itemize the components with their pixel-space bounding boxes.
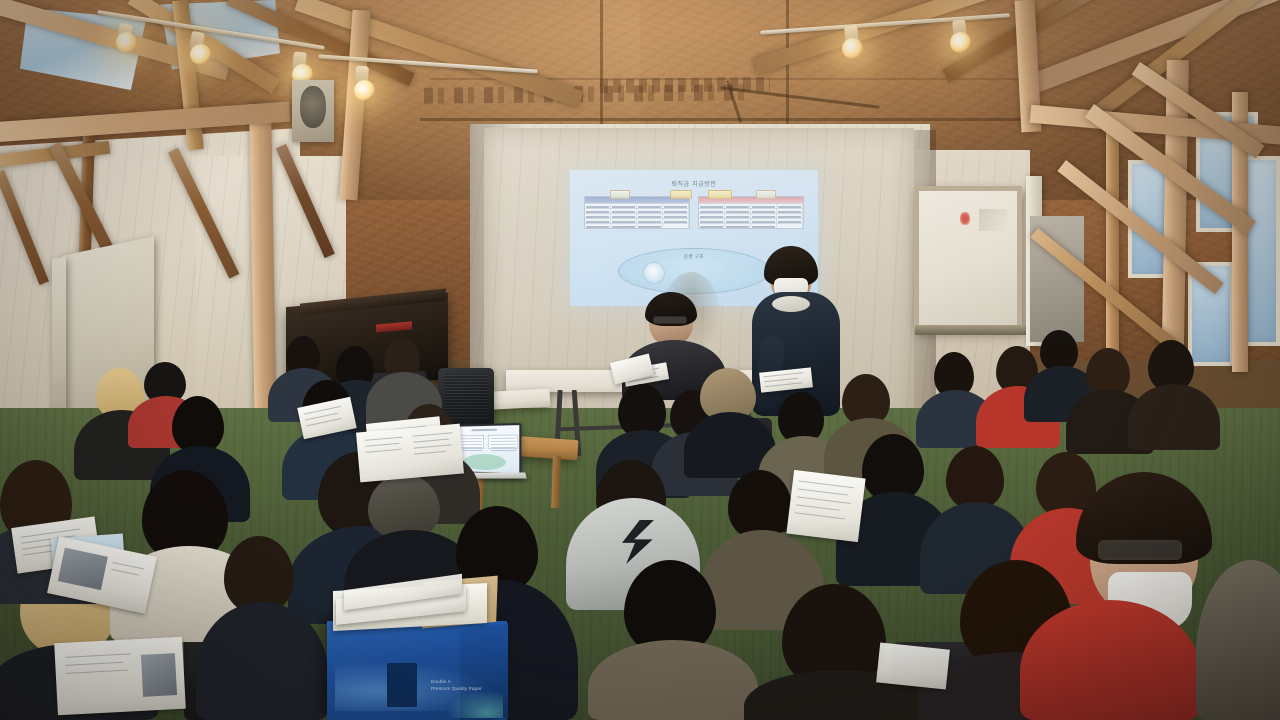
vent-fan-icon [300, 86, 326, 128]
speaker-grille [444, 374, 488, 418]
laptop-slide-title [472, 429, 497, 432]
slide-oval-label: 운영 구조 [619, 254, 769, 260]
track-light-bulb [190, 44, 211, 65]
slide-table-group [584, 196, 804, 229]
document-box-handle [387, 663, 417, 707]
open-binder [356, 424, 464, 483]
track-light-bulb [354, 80, 375, 101]
seated-presenter-glasses [653, 316, 687, 324]
slide-chip-2 [708, 190, 732, 199]
track-light-bulb [842, 38, 863, 59]
slide-chip-1 [670, 190, 692, 199]
whiteboard [914, 186, 1022, 330]
whiteboard-scuff [979, 209, 1007, 231]
attendee-glasses [1098, 540, 1182, 560]
attendee-handout [54, 637, 186, 716]
document-box-brand: Double A Premium Quality Paper [431, 679, 482, 693]
track-light-bulb [116, 32, 137, 53]
track-light-bulb [950, 32, 971, 53]
slide-title: 퇴직금 지급방안 [570, 179, 818, 188]
post [1106, 112, 1119, 382]
leaning-board [52, 257, 66, 432]
meeting-room-photo: 퇴직금 지급방안 운영 구조 [0, 0, 1280, 720]
window-far-right [1244, 156, 1280, 346]
slide-chip-3 [756, 190, 776, 199]
slide-diagram-node [643, 262, 665, 284]
standing-presenter-collar [772, 296, 810, 312]
document-box-accent [449, 692, 503, 718]
slide-chip-0 [610, 190, 630, 199]
osb-seam [420, 118, 1040, 121]
whiteboard-red-mark [960, 212, 970, 225]
attendee-handout [786, 470, 865, 542]
attendee-body [1128, 384, 1220, 450]
attendee-head [946, 446, 1004, 510]
slide-table-right [698, 196, 804, 229]
attendee-handout [876, 642, 950, 689]
laptop-slide-table-right [488, 434, 518, 449]
whiteboard-tray [915, 325, 1031, 335]
slide-table-left [584, 196, 690, 229]
document-box: Double A Premium Quality Paper 교육자료 배부용 [327, 621, 507, 720]
